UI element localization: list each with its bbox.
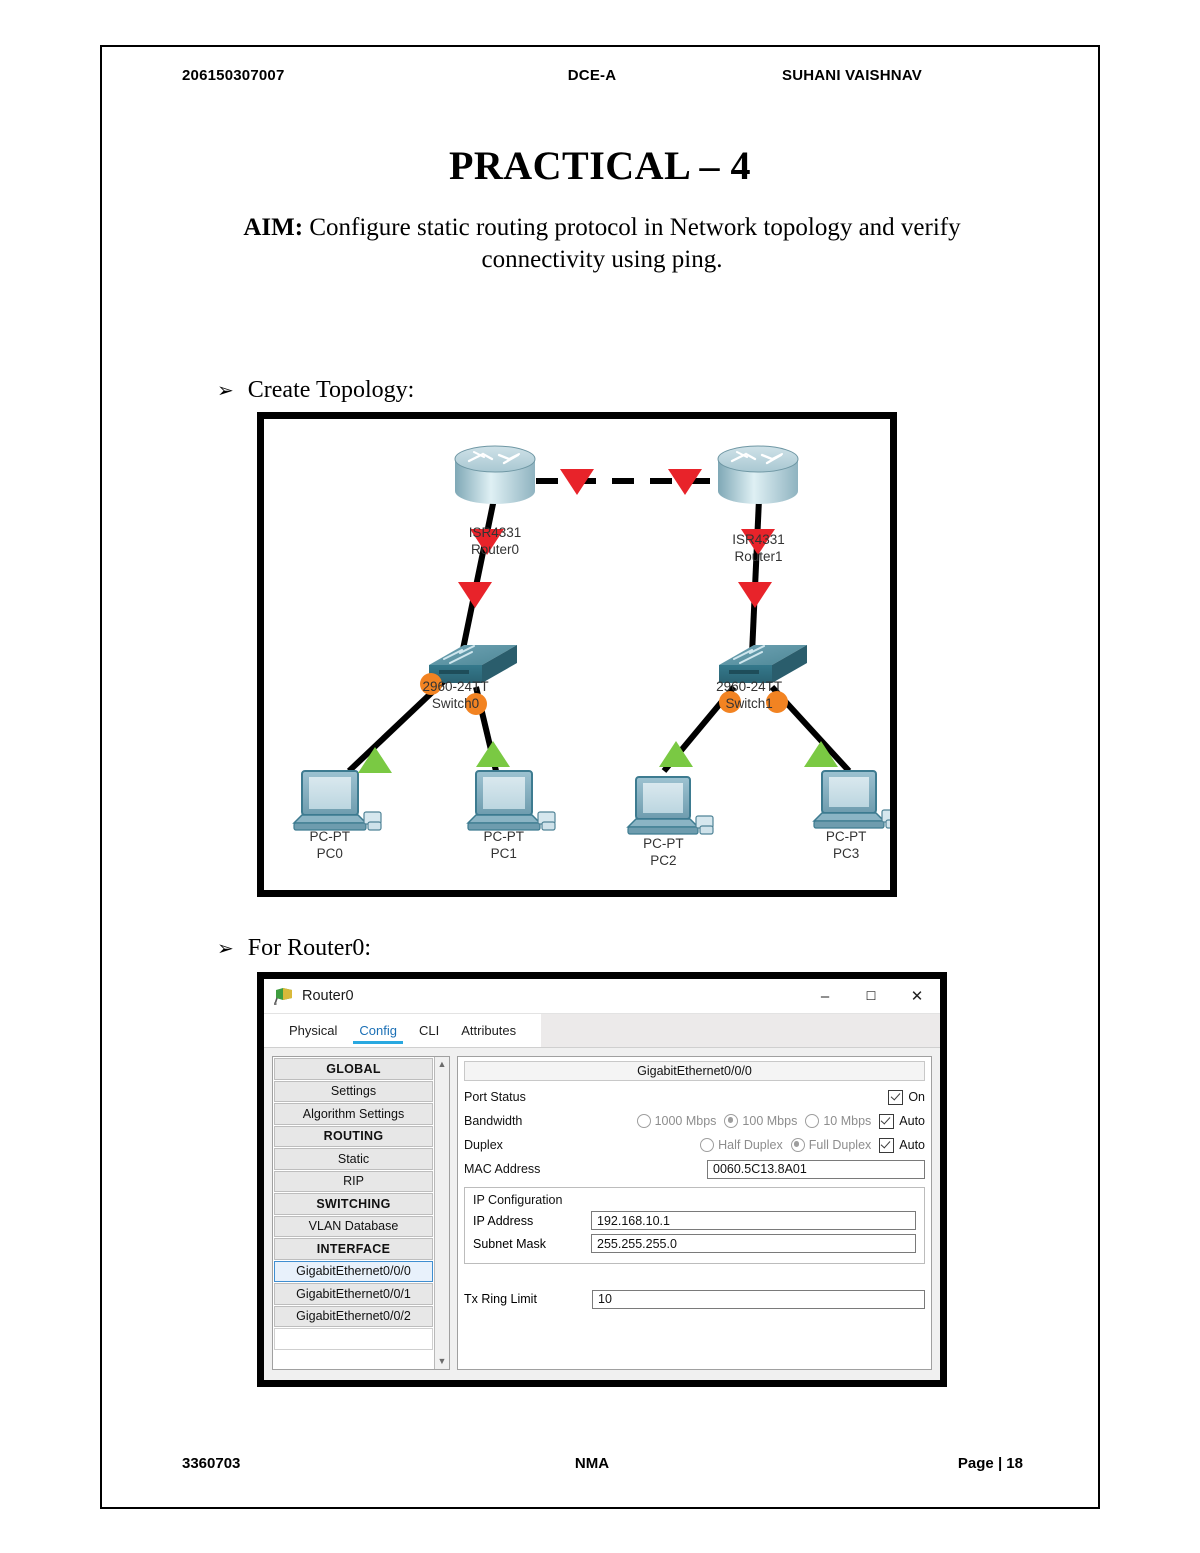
page-footer: 3360703 NMA Page | 18 [102, 1455, 1098, 1472]
maximize-button[interactable]: ☐ [848, 979, 894, 1013]
device-pc2[interactable] [628, 777, 713, 834]
window-controls: – ☐ ✕ [802, 979, 940, 1013]
window-title: Router0 [302, 988, 354, 1004]
tx-ring-limit-row: Tx Ring Limit 10 [464, 1286, 925, 1312]
link-status-down-icon [738, 582, 772, 608]
minimize-button[interactable]: – [802, 979, 848, 1013]
bandwidth-auto-label: Auto [899, 1114, 925, 1128]
device-switch1[interactable] [719, 645, 807, 683]
radio-label: 100 Mbps [742, 1114, 797, 1128]
radio-icon [637, 1114, 651, 1128]
duplex-row: Duplex Half Duplex Full Duplex [464, 1133, 925, 1157]
device-router0[interactable] [455, 446, 535, 504]
section-create-topology: ➢ Create Topology: [217, 377, 414, 404]
port-status-on-label: On [908, 1090, 925, 1104]
checkbox-icon [879, 1138, 894, 1153]
radio-label: 1000 Mbps [655, 1114, 717, 1128]
device-pc0[interactable] [294, 771, 381, 830]
sidebar-item-blank [274, 1328, 433, 1350]
header-student-name: SUHANI VAISHNAV [702, 67, 1098, 84]
interface-config-panel: GigabitEthernet0/0/0 Port Status On Band… [457, 1056, 932, 1370]
scroll-down-icon[interactable]: ▼ [438, 1357, 447, 1366]
tab-cli[interactable]: CLI [408, 1014, 450, 1047]
duplex-label: Duplex [464, 1138, 592, 1152]
link-router0-switch0 [462, 499, 494, 654]
sidebar-header-switching: SWITCHING [274, 1193, 433, 1215]
sidebar-item-gigabitethernet0-0-0[interactable]: GigabitEthernet0/0/0 [274, 1261, 433, 1283]
bandwidth-option-1000[interactable]: 1000 Mbps [637, 1114, 717, 1128]
device-pc1[interactable] [468, 771, 555, 830]
config-sidebar: GLOBAL Settings Algorithm Settings ROUTI… [272, 1056, 450, 1370]
subnet-mask-input[interactable]: 255.255.255.0 [591, 1234, 916, 1253]
sidebar-header-global: GLOBAL [274, 1058, 433, 1080]
radio-icon [700, 1138, 714, 1152]
link-status-idle-icon [420, 673, 442, 695]
ip-address-input[interactable]: 192.168.10.1 [591, 1211, 916, 1230]
interface-title: GigabitEthernet0/0/0 [464, 1061, 925, 1081]
sidebar-item-vlan-database[interactable]: VLAN Database [274, 1216, 433, 1238]
radio-label: Full Duplex [809, 1138, 872, 1152]
device-pc3[interactable] [814, 771, 890, 828]
link-status-idle-icon [719, 691, 741, 713]
sidebar-item-rip[interactable]: RIP [274, 1171, 433, 1193]
link-status-down-icon [741, 529, 775, 555]
bandwidth-row: Bandwidth 1000 Mbps 100 Mbps [464, 1109, 925, 1133]
aim-label: AIM: [243, 214, 303, 241]
duplex-auto-checkbox[interactable]: Auto [879, 1138, 925, 1153]
section-label: Create Topology: [248, 377, 415, 404]
link-router1-switch1 [752, 499, 759, 654]
radio-icon [791, 1138, 805, 1152]
section-for-router0: ➢ For Router0: [217, 935, 371, 962]
bullet-arrow-icon: ➢ [217, 381, 234, 401]
footer-subject-code: 3360703 [182, 1455, 462, 1472]
ip-configuration-label: IP Configuration [473, 1193, 916, 1207]
page-header: 206150307007 DCE-A SUHANI VAISHNAV [102, 67, 1098, 84]
header-enrollment: 206150307007 [182, 67, 482, 84]
tx-ring-limit-input[interactable]: 10 [592, 1290, 925, 1309]
mac-address-row: MAC Address 0060.5C13.8A01 [464, 1157, 925, 1181]
ip-address-row: IP Address 192.168.10.1 [473, 1209, 916, 1232]
port-status-label: Port Status [464, 1090, 592, 1104]
aim-text: Configure static routing protocol in Net… [303, 214, 961, 273]
window-title-bar: Router0 – ☐ ✕ [264, 979, 940, 1014]
sidebar-item-algorithm-settings[interactable]: Algorithm Settings [274, 1103, 433, 1125]
sidebar-scrollbar[interactable]: ▲ ▼ [434, 1057, 449, 1369]
header-division: DCE-A [482, 67, 702, 84]
sidebar-item-settings[interactable]: Settings [274, 1081, 433, 1103]
section-label: For Router0: [248, 935, 371, 962]
device-router1[interactable] [718, 446, 798, 504]
bandwidth-option-10[interactable]: 10 Mbps [805, 1114, 871, 1128]
tab-bar: Physical Config CLI Attributes [264, 1014, 940, 1048]
radio-icon [805, 1114, 819, 1128]
bandwidth-auto-checkbox[interactable]: Auto [879, 1114, 925, 1129]
subnet-mask-label: Subnet Mask [473, 1237, 591, 1251]
ip-configuration-group: IP Configuration IP Address 192.168.10.1… [464, 1187, 925, 1264]
ip-address-label: IP Address [473, 1214, 591, 1228]
tab-attributes[interactable]: Attributes [450, 1014, 527, 1047]
mac-address-label: MAC Address [464, 1162, 592, 1176]
bandwidth-label: Bandwidth [464, 1114, 592, 1128]
bullet-arrow-icon: ➢ [217, 939, 234, 959]
radio-label: 10 Mbps [823, 1114, 871, 1128]
document-page: 206150307007 DCE-A SUHANI VAISHNAV PRACT… [100, 45, 1100, 1509]
sidebar-item-static[interactable]: Static [274, 1148, 433, 1170]
link-status-idle-icon [766, 691, 788, 713]
link-status-idle-icon [465, 693, 487, 715]
tx-ring-limit-label: Tx Ring Limit [464, 1292, 592, 1306]
mac-address-input[interactable]: 0060.5C13.8A01 [707, 1160, 925, 1179]
link-status-up-icon [476, 741, 510, 767]
bandwidth-option-100[interactable]: 100 Mbps [724, 1114, 797, 1128]
link-status-down-icon [470, 529, 504, 555]
duplex-option-full[interactable]: Full Duplex [791, 1138, 872, 1152]
sidebar-header-routing: ROUTING [274, 1126, 433, 1148]
subnet-mask-row: Subnet Mask 255.255.255.0 [473, 1232, 916, 1255]
checkbox-icon [879, 1114, 894, 1129]
aim-statement: AIM: Configure static routing protocol i… [202, 212, 1002, 276]
scroll-up-icon[interactable]: ▲ [438, 1060, 447, 1069]
packet-tracer-icon [274, 987, 294, 1005]
footer-subject: NMA [462, 1455, 722, 1472]
router0-config-window: Router0 – ☐ ✕ Physical Config CLI Attrib… [257, 972, 947, 1387]
link-status-down-icon [458, 582, 492, 608]
sidebar-header-interface: INTERFACE [274, 1238, 433, 1260]
topology-diagram: ISR4331 Router0 ISR4331 Router1 2960-24T… [257, 412, 897, 897]
page-title: PRACTICAL – 4 [102, 142, 1098, 189]
port-status-checkbox[interactable]: On [888, 1090, 925, 1105]
device-switch0[interactable] [429, 645, 517, 683]
duplex-auto-label: Auto [899, 1138, 925, 1152]
topology-canvas [264, 419, 890, 890]
tab-config[interactable]: Config [348, 1014, 408, 1047]
sidebar-item-gigabitethernet0-0-2[interactable]: GigabitEthernet0/0/2 [274, 1306, 433, 1328]
sidebar-item-gigabitethernet0-0-1[interactable]: GigabitEthernet0/0/1 [274, 1283, 433, 1305]
tab-physical[interactable]: Physical [278, 1014, 348, 1047]
port-status-row: Port Status On [464, 1085, 925, 1109]
duplex-option-half[interactable]: Half Duplex [700, 1138, 783, 1152]
checkbox-icon [888, 1090, 903, 1105]
close-button[interactable]: ✕ [894, 979, 940, 1013]
radio-icon [724, 1114, 738, 1128]
footer-page-number: Page | 18 [722, 1455, 1098, 1472]
radio-label: Half Duplex [718, 1138, 783, 1152]
